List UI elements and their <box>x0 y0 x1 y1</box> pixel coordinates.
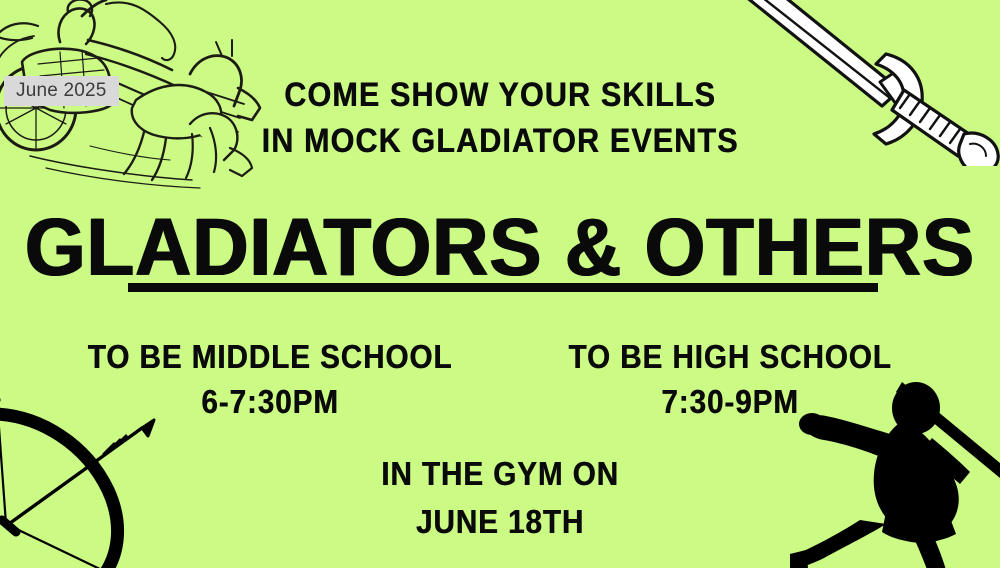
kicker-line-1: Come show your skills <box>50 72 950 118</box>
venue-line-1: In the gym on <box>50 450 950 498</box>
session-high-school: To be high school 7:30-9PM <box>520 335 940 425</box>
kicker-text: Come show your skills in mock gladiator … <box>0 72 1000 164</box>
date-badge: June 2025 <box>4 76 119 106</box>
headline-underline-rule <box>128 283 878 292</box>
session-middle-school: To be middle school 6-7:30PM <box>60 335 480 425</box>
session-audience-label: To be middle school <box>81 335 459 379</box>
kicker-line-2: in mock gladiator events <box>50 118 950 164</box>
session-row: To be middle school 6-7:30PM To be high … <box>0 335 1000 425</box>
venue-line-2: June 18th <box>50 498 950 546</box>
venue-text: In the gym on June 18th <box>0 450 1000 546</box>
event-poster: Come show your skills in mock gladiator … <box>0 0 1000 568</box>
page-title: Gladiators & Others <box>25 205 975 291</box>
session-audience-label: To be high school <box>541 335 919 379</box>
session-time-label: 7:30-9PM <box>541 379 919 425</box>
session-time-label: 6-7:30PM <box>81 379 459 425</box>
headline-container: Gladiators & Others <box>0 205 1000 291</box>
